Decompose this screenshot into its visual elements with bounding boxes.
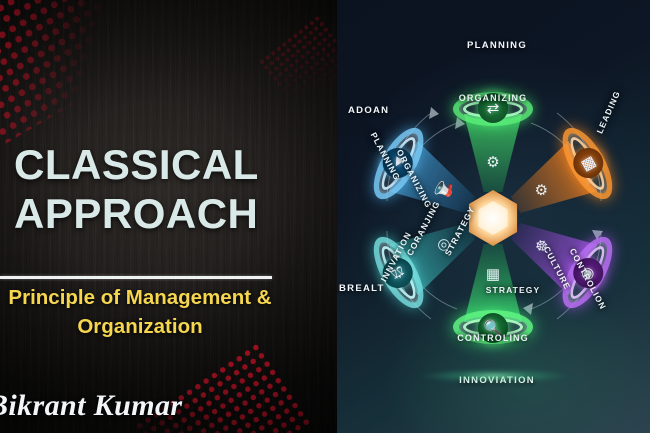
title-panel: CLASSICAL APPROACH Principle of Manageme… [0, 0, 337, 433]
cone-label-controling: CONTROLING [457, 333, 529, 343]
subtitle-line-1: Principle of Management & [0, 283, 290, 312]
page-title: CLASSICAL APPROACH [14, 140, 337, 238]
title-line-1: CLASSICAL [14, 140, 337, 189]
grid-icon: ▦ [481, 263, 505, 285]
outer-label-adoan: ADOAN [348, 105, 389, 116]
halftone-dots-top-left [0, 0, 159, 145]
subtitle-line-2: Organization [0, 312, 290, 341]
slide-canvas: CLASSICAL APPROACH Principle of Manageme… [0, 0, 650, 433]
cone-label-leading: LEADING [594, 89, 622, 135]
bottom-glow [399, 368, 589, 384]
author-name: Bikrant Kumar [0, 389, 182, 423]
outer-label-brealt: BREALT [339, 283, 385, 294]
title-line-2: APPROACH [14, 189, 337, 238]
subtitle: Principle of Management & Organization [0, 283, 290, 341]
cone-label-strategy-bottom: STRATEGY [486, 285, 540, 295]
halftone-dots-top-right [257, 14, 337, 119]
gear-icon: ⚙ [481, 151, 505, 173]
cone-label-organizing-top: ORGANIZING [459, 93, 528, 103]
title-divider [0, 276, 272, 279]
infographic-panel: ▲ 📢 ⚖ ◎ 🔍 ▦ [337, 0, 650, 433]
outer-label-planning-top: PLANNING [467, 40, 527, 51]
